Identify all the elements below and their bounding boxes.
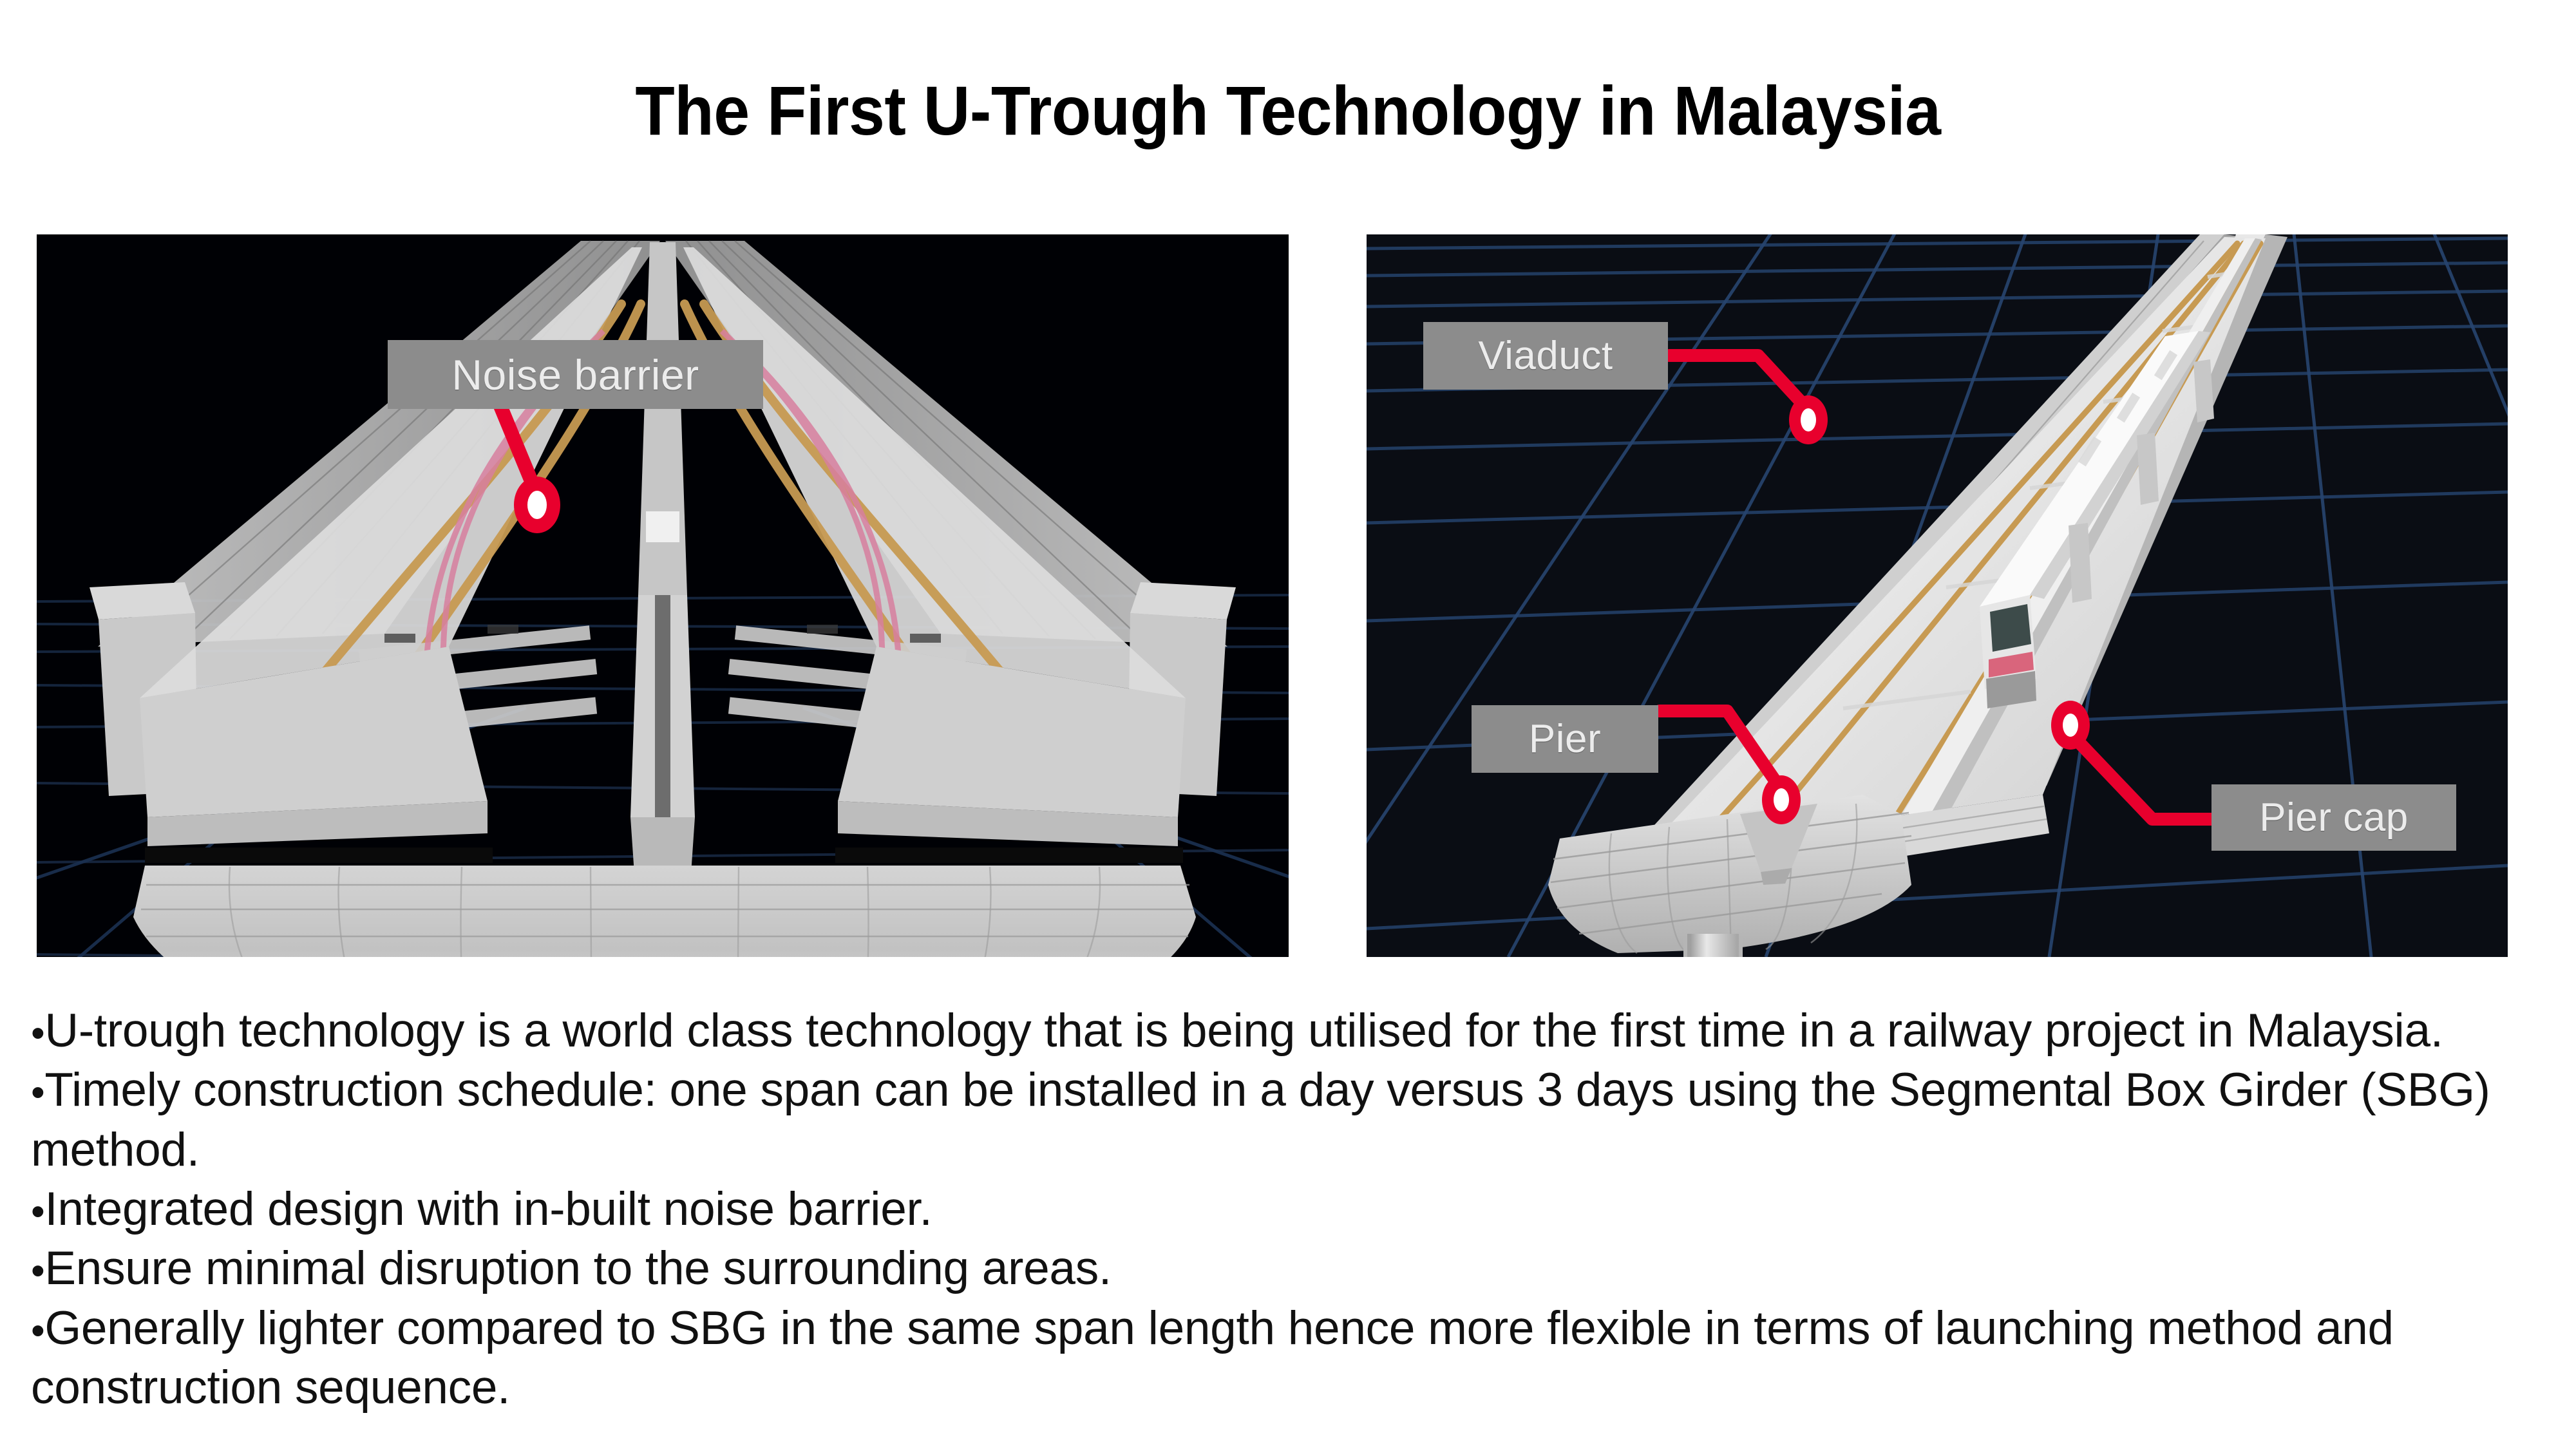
bullet-text: Ensure minimal disruption to the surroun… bbox=[44, 1242, 1111, 1294]
bullet-item: •Integrated design with in-built noise b… bbox=[31, 1180, 2530, 1239]
bullet-marker: • bbox=[31, 1070, 44, 1115]
callout-label-viaduct[interactable]: Viaduct bbox=[1423, 322, 1668, 390]
bullet-item: •Timely construction schedule: one span … bbox=[31, 1061, 2530, 1180]
bullet-marker: • bbox=[31, 1011, 44, 1056]
callout-label-pier[interactable]: Pier bbox=[1472, 705, 1658, 773]
bullet-item: •Ensure minimal disruption to the surrou… bbox=[31, 1239, 2530, 1298]
page-title: The First U-Trough Technology in Malaysi… bbox=[90, 76, 2486, 146]
bullet-item: •Generally lighter compared to SBG in th… bbox=[31, 1299, 2530, 1418]
bullet-list: •U-trough technology is a world class te… bbox=[31, 1001, 2530, 1417]
bullet-marker: • bbox=[31, 1249, 44, 1293]
bullet-marker: • bbox=[31, 1189, 44, 1234]
bullet-item: •U-trough technology is a world class te… bbox=[31, 1001, 2530, 1061]
callout-label-noise-barrier[interactable]: Noise barrier bbox=[388, 340, 763, 409]
callout-label-pier-cap[interactable]: Pier cap bbox=[2211, 784, 2456, 851]
bullet-text: Timely construction schedule: one span c… bbox=[31, 1064, 2490, 1175]
bullet-marker: • bbox=[31, 1309, 44, 1353]
bullet-text: Generally lighter compared to SBG in the… bbox=[31, 1302, 2394, 1414]
bullet-text: U-trough technology is a world class tec… bbox=[44, 1005, 2443, 1057]
bullet-text: Integrated design with in-built noise ba… bbox=[44, 1183, 932, 1235]
